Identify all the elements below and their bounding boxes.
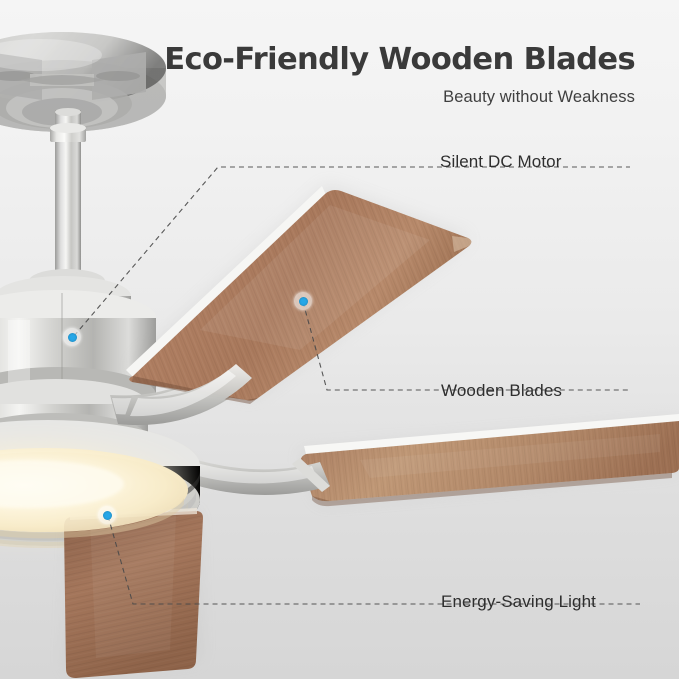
- page-title: Eco-Friendly Wooden Blades: [164, 42, 635, 77]
- wooden-blade-right: [300, 414, 679, 506]
- location-dot-icon-light: [98, 506, 116, 524]
- infographic-canvas: Eco-Friendly Wooden Blades Beauty withou…: [0, 0, 679, 679]
- location-dot-icon-blades: [294, 292, 312, 310]
- callout-label-wooden-blades: Wooden Blades: [441, 381, 562, 401]
- header: Eco-Friendly Wooden Blades Beauty withou…: [0, 0, 679, 122]
- page-subtitle: Beauty without Weakness: [443, 88, 635, 107]
- callout-label-energy-saving-light: Energy-Saving Light: [441, 592, 596, 612]
- callout-label-silent-dc-motor: Silent DC Motor: [440, 152, 561, 172]
- downrod: [50, 108, 86, 295]
- location-dot-icon-motor: [63, 328, 81, 346]
